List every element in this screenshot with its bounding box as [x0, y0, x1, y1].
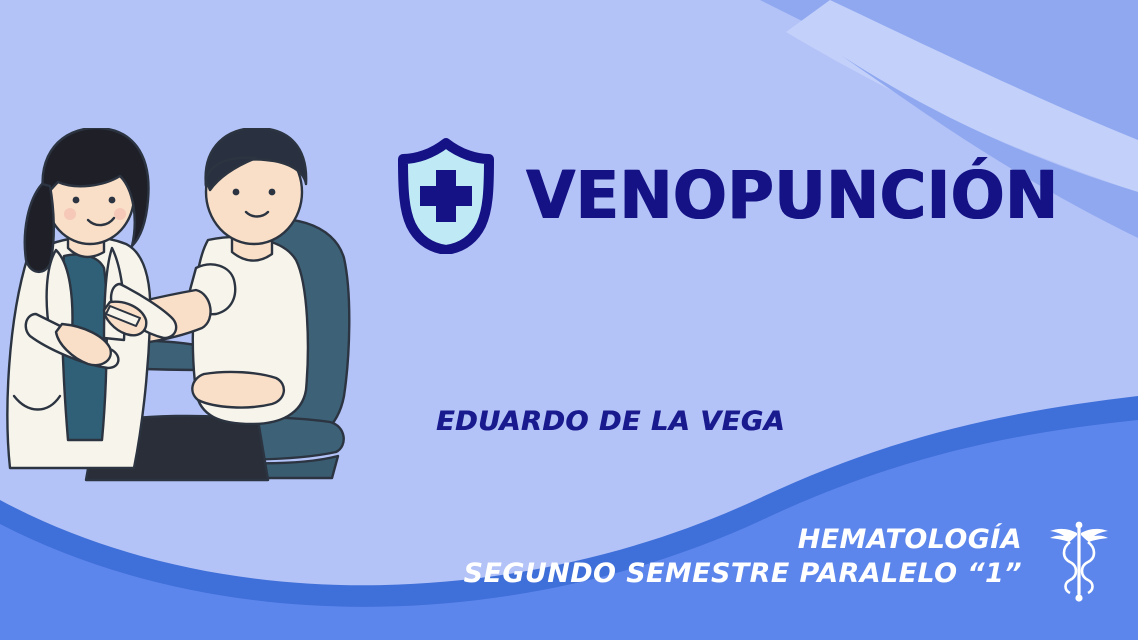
patient-eye-left — [233, 189, 240, 196]
footer-subject: HEMATOLOGÍA — [464, 523, 1022, 558]
footer-course: SEGUNDO SEMESTRE PARALELO “1” — [464, 557, 1022, 592]
caduceus-wing-right — [1081, 529, 1108, 542]
caduceus-staff — [1077, 527, 1080, 595]
patient-eye-right — [269, 189, 276, 196]
caduceus-snake-left — [1064, 542, 1076, 593]
nurse-eye-left — [73, 197, 80, 204]
caduceus-snake-right — [1082, 542, 1094, 593]
footer-block: HEMATOLOGÍA SEGUNDO SEMESTRE PARALELO “1… — [464, 523, 1022, 592]
patient-forearm-lower — [192, 372, 284, 408]
nurse-blush-right — [114, 208, 126, 220]
shield-cross-icon — [398, 138, 494, 254]
nurse-eye-right — [109, 197, 116, 204]
caduceus-wing-left — [1050, 529, 1077, 542]
nurse-blush-left — [64, 208, 76, 220]
caduceus-base — [1075, 594, 1082, 601]
caduceus-icon — [1048, 518, 1110, 604]
title-row: VENOPUNCIÓN — [398, 138, 1081, 254]
page-title: VENOPUNCIÓN — [526, 163, 1058, 229]
presentation-title-slide: VENOPUNCIÓN EDUARDO DE LA VEGA HEMATOLOG… — [0, 0, 1138, 640]
nurse-hair-ponytail — [25, 184, 54, 272]
phlebotomy-illustration — [0, 128, 372, 488]
author-name: EDUARDO DE LA VEGA — [436, 406, 785, 437]
